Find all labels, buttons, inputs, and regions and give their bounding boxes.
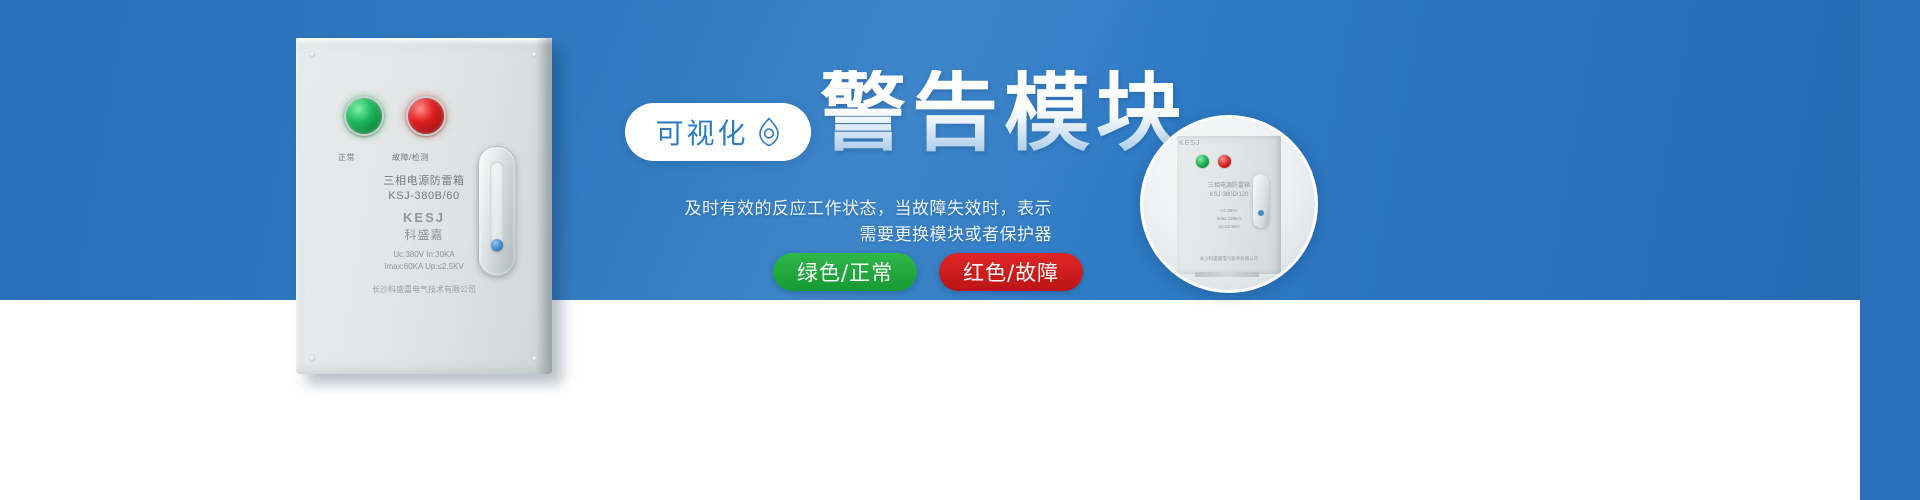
indicator-light-red [406, 96, 446, 136]
door-latch-handle [478, 146, 516, 276]
inset-company: 长沙科盛嘉电气技术有限公司 [1143, 256, 1315, 262]
inset-brand-logo: KESJ [1179, 140, 1201, 147]
inset-line1: 三相电源防雷箱 [1143, 180, 1315, 189]
visualization-pill-label: 可视化 [655, 112, 748, 152]
product-photo: 正常 故障/检测 三相电源防雷箱 KSJ-380B/60 KESJ 科盛嘉 Uc… [296, 38, 552, 374]
subtitle-line-2: 需要更换模块或者保护器 [640, 222, 1052, 248]
location-pin-icon [757, 117, 781, 147]
product-enclosure: 正常 故障/检测 三相电源防雷箱 KSJ-380B/60 KESJ 科盛嘉 Uc… [296, 38, 552, 374]
product-company: 长沙科盛嘉电气技术有限公司 [296, 284, 552, 295]
banner-background-white [0, 300, 1920, 500]
product-right-edge [536, 38, 552, 374]
indicator-label-normal: 正常 [338, 152, 355, 163]
latch-knob [491, 239, 503, 251]
page-title: 警告模块 [820, 70, 1188, 156]
inset-spec1: Uc:380V [1143, 208, 1315, 213]
enclosure-bolt [532, 52, 537, 57]
inset-line2: KSJ-380D/120 [1143, 192, 1315, 198]
latch-slot [490, 161, 504, 247]
indicator-light-green [344, 96, 384, 136]
inset-spec3: Up:≤2.5KV [1143, 224, 1315, 229]
status-badge-normal[interactable]: 绿色/正常 [773, 253, 917, 291]
banner-subtitle: 及时有效的反应工作状态，当故障失效时，表示 需要更换模块或者保护器 [640, 196, 1052, 249]
inset-indicator-red [1217, 154, 1232, 169]
inset-indicator-green [1195, 154, 1210, 169]
enclosure-bolt [532, 356, 537, 361]
visualization-pill[interactable]: 可视化 [625, 103, 811, 161]
product-detail-circle-inset: KESJ 三相电源防雷箱 KSJ-380D/120 Uc:380V Imax:1… [1140, 115, 1318, 293]
enclosure-bolt [310, 52, 315, 57]
promo-banner: 正常 故障/检测 三相电源防雷箱 KSJ-380B/60 KESJ 科盛嘉 Uc… [0, 0, 1920, 500]
status-badge-fault[interactable]: 红色/故障 [939, 253, 1083, 291]
inset-mounting-feet [1195, 272, 1259, 277]
subtitle-line-1: 及时有效的反应工作状态，当故障失效时，表示 [640, 196, 1052, 222]
indicator-label-fault: 故障/检测 [392, 152, 429, 163]
enclosure-bolt [310, 356, 315, 361]
status-badge-group: 绿色/正常 红色/故障 [773, 253, 1083, 291]
product-top-edge [296, 38, 552, 46]
inset-spec2: Imax:120KA [1143, 216, 1315, 221]
banner-right-blue-column [1860, 0, 1920, 500]
